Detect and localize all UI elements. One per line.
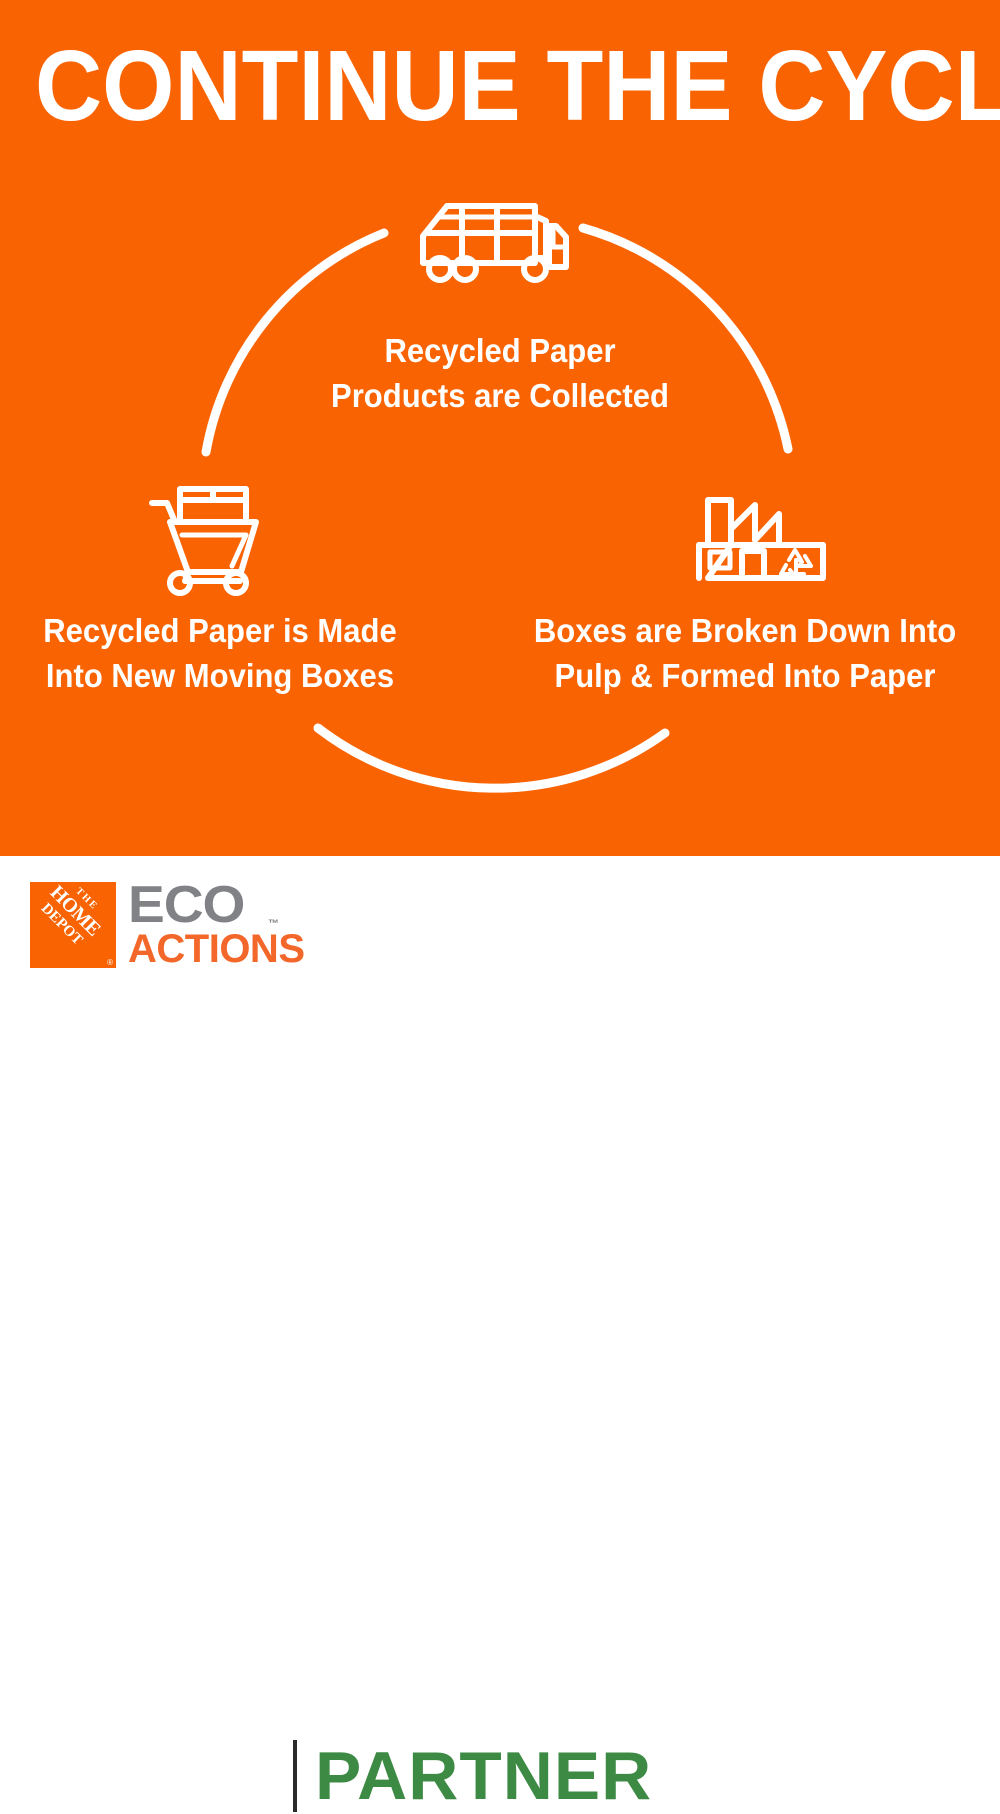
step-caption-pulped: Boxes are Broken Down Into Pulp & Formed… <box>529 608 961 698</box>
footer-divider <box>293 1740 297 1812</box>
the-home-depot-logo: THE HOME DEPOT ® <box>30 882 116 968</box>
recycling-truck-icon <box>423 206 566 280</box>
step-caption-new-boxes: Recycled Paper is Made Into New Moving B… <box>23 608 418 698</box>
eco-word: ECO <box>128 880 244 930</box>
factory-door <box>742 551 764 578</box>
step-caption-collected: Recycled Paper Products are Collected <box>293 328 707 418</box>
eco-actions-wordmark: ECO ™ ACTIONS <box>128 880 288 972</box>
home-depot-wordmark: THE HOME DEPOT <box>30 882 116 967</box>
partner-label: PARTNER <box>315 1740 652 1812</box>
cart-wheel-1 <box>170 573 190 593</box>
cart-basket-inner <box>182 535 246 566</box>
registered-trademark-icon: ® <box>107 958 113 967</box>
cycle-diagram <box>0 0 1000 856</box>
footer-bar: THE HOME DEPOT ® ECO ™ ACTIONS PARTNER <box>0 856 1000 1000</box>
recycle-arrow-bottom <box>796 568 804 574</box>
recycling-symbol <box>781 550 811 574</box>
actions-word: ACTIONS <box>128 928 305 970</box>
recycle-arrow-left <box>781 565 793 574</box>
shopping-cart-box-icon <box>152 489 256 593</box>
factory-recycling-icon <box>699 500 823 578</box>
infographic-poster: CONTINUE THE CYCLE <box>0 0 1000 1000</box>
cycle-arc-bottom <box>318 728 665 788</box>
cycle-arcs <box>206 228 788 788</box>
hero-panel: CONTINUE THE CYCLE <box>0 0 1000 856</box>
